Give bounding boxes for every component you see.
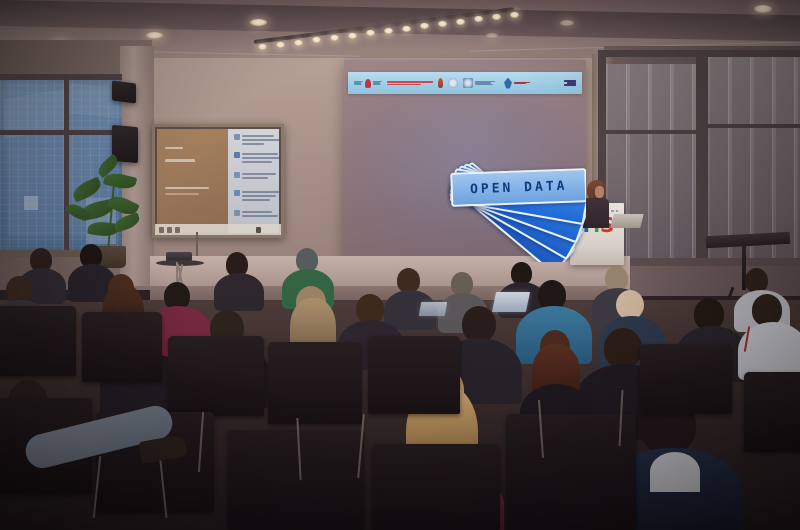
chair — [744, 372, 800, 452]
presenter-laptop — [610, 214, 643, 228]
track-light-icon — [456, 19, 465, 25]
track-light-icon — [276, 42, 285, 48]
track-light-icon — [510, 12, 519, 18]
logo-6 — [463, 78, 495, 88]
open-data-slide: DATA DATA DATA DATA OPEN DATA — [344, 60, 586, 262]
window-transom — [0, 130, 122, 135]
logo-4 — [438, 78, 443, 88]
track-light-icon — [474, 16, 483, 22]
chair — [368, 336, 460, 414]
blind-rail — [604, 130, 698, 134]
blinds-window — [706, 56, 800, 260]
chair — [168, 336, 264, 416]
chair — [228, 430, 364, 530]
chair — [372, 444, 500, 530]
blind-rail — [706, 124, 800, 128]
window-mullion — [696, 50, 708, 262]
track-light-icon — [420, 23, 429, 29]
downlight-icon — [754, 5, 772, 13]
track-light-icon — [438, 21, 447, 27]
chair — [0, 306, 76, 376]
social-wall-screen — [152, 124, 284, 238]
logo-3 — [387, 81, 433, 85]
chair — [506, 414, 636, 530]
window-head — [0, 74, 122, 80]
logo-5 — [448, 78, 458, 88]
track-light-icon — [330, 35, 339, 41]
audience-laptop — [492, 292, 530, 312]
slide-left-panel — [157, 129, 228, 233]
window-head — [598, 50, 800, 57]
logo-9 — [564, 80, 576, 86]
downlight-icon — [486, 33, 498, 38]
track-light-icon — [294, 40, 303, 46]
track-light-icon — [402, 26, 411, 32]
sponsor-logo-bar — [348, 72, 582, 94]
chair — [268, 342, 362, 424]
slide-taskbar — [155, 224, 281, 235]
downlight-icon — [560, 20, 574, 26]
track-light-icon — [312, 37, 321, 43]
presenter-face — [595, 186, 604, 198]
chair — [640, 344, 732, 414]
tweet-feed-panel — [228, 129, 279, 233]
logo-7 — [504, 78, 530, 89]
presenter-body — [583, 198, 609, 228]
track-light-icon — [492, 14, 501, 20]
track-light-icon — [384, 28, 393, 34]
track-light-icon — [258, 44, 267, 50]
plate-text: OPEN DATA — [470, 178, 568, 196]
window-mullion — [64, 78, 69, 254]
license-plate-open-data: OPEN DATA — [450, 168, 586, 207]
audience-laptop — [419, 302, 447, 316]
conference-room-photo: DATA DATA DATA DATA OPEN DATA TiS — [0, 0, 800, 530]
track-light-icon — [348, 33, 357, 39]
downlight-icon — [250, 19, 267, 26]
downlight-icon — [146, 32, 163, 39]
track-light-icon — [366, 30, 375, 36]
wall-monitor-upper — [112, 81, 136, 104]
chair — [82, 312, 162, 382]
logo-1 — [354, 79, 382, 88]
